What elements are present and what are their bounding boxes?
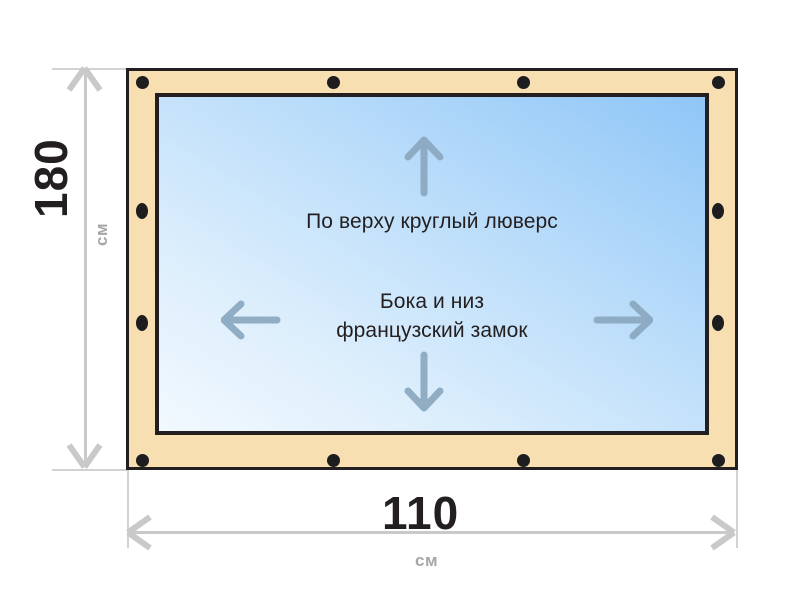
width-dimension-value: 110 (382, 486, 459, 540)
top-grommet-note: По верху круглый люверс (159, 207, 705, 236)
grommet-right-1 (712, 203, 724, 219)
grommet-left-1 (136, 203, 148, 219)
grommet-top-2 (327, 76, 340, 89)
grommet-top-1 (136, 76, 149, 89)
curtain-product[interactable]: По верху круглый люверс Бока и низ франц… (126, 68, 738, 470)
grommet-bottom-3 (517, 454, 530, 467)
height-dimension-value: 180 (24, 138, 78, 218)
width-dimension-unit: см (415, 551, 438, 571)
height-dimension-line (84, 72, 87, 466)
grommet-top-4 (712, 76, 725, 89)
arrow-up-icon (403, 135, 445, 197)
width-arrow-right-icon (710, 514, 736, 551)
diagram-canvas: 180 см (0, 0, 800, 600)
sides-bottom-note-line2: французский замок (159, 316, 705, 345)
height-dimension-unit: см (92, 223, 112, 246)
grommet-bottom-4 (712, 454, 725, 467)
height-arrow-up-icon (66, 66, 103, 92)
height-extension-line-bottom (52, 469, 128, 471)
width-arrow-left-icon (126, 514, 152, 551)
curtain-fabric-panel: По верху круглый люверс Бока и низ франц… (155, 93, 709, 435)
arrow-down-icon (403, 351, 445, 413)
grommet-left-2 (136, 315, 148, 331)
grommet-bottom-1 (136, 454, 149, 467)
grommet-bottom-2 (327, 454, 340, 467)
height-arrow-down-icon (66, 443, 103, 469)
grommet-right-2 (712, 315, 724, 331)
width-extension-line-right (736, 470, 738, 548)
sides-bottom-note-line1: Бока и низ (159, 287, 705, 316)
grommet-top-3 (517, 76, 530, 89)
